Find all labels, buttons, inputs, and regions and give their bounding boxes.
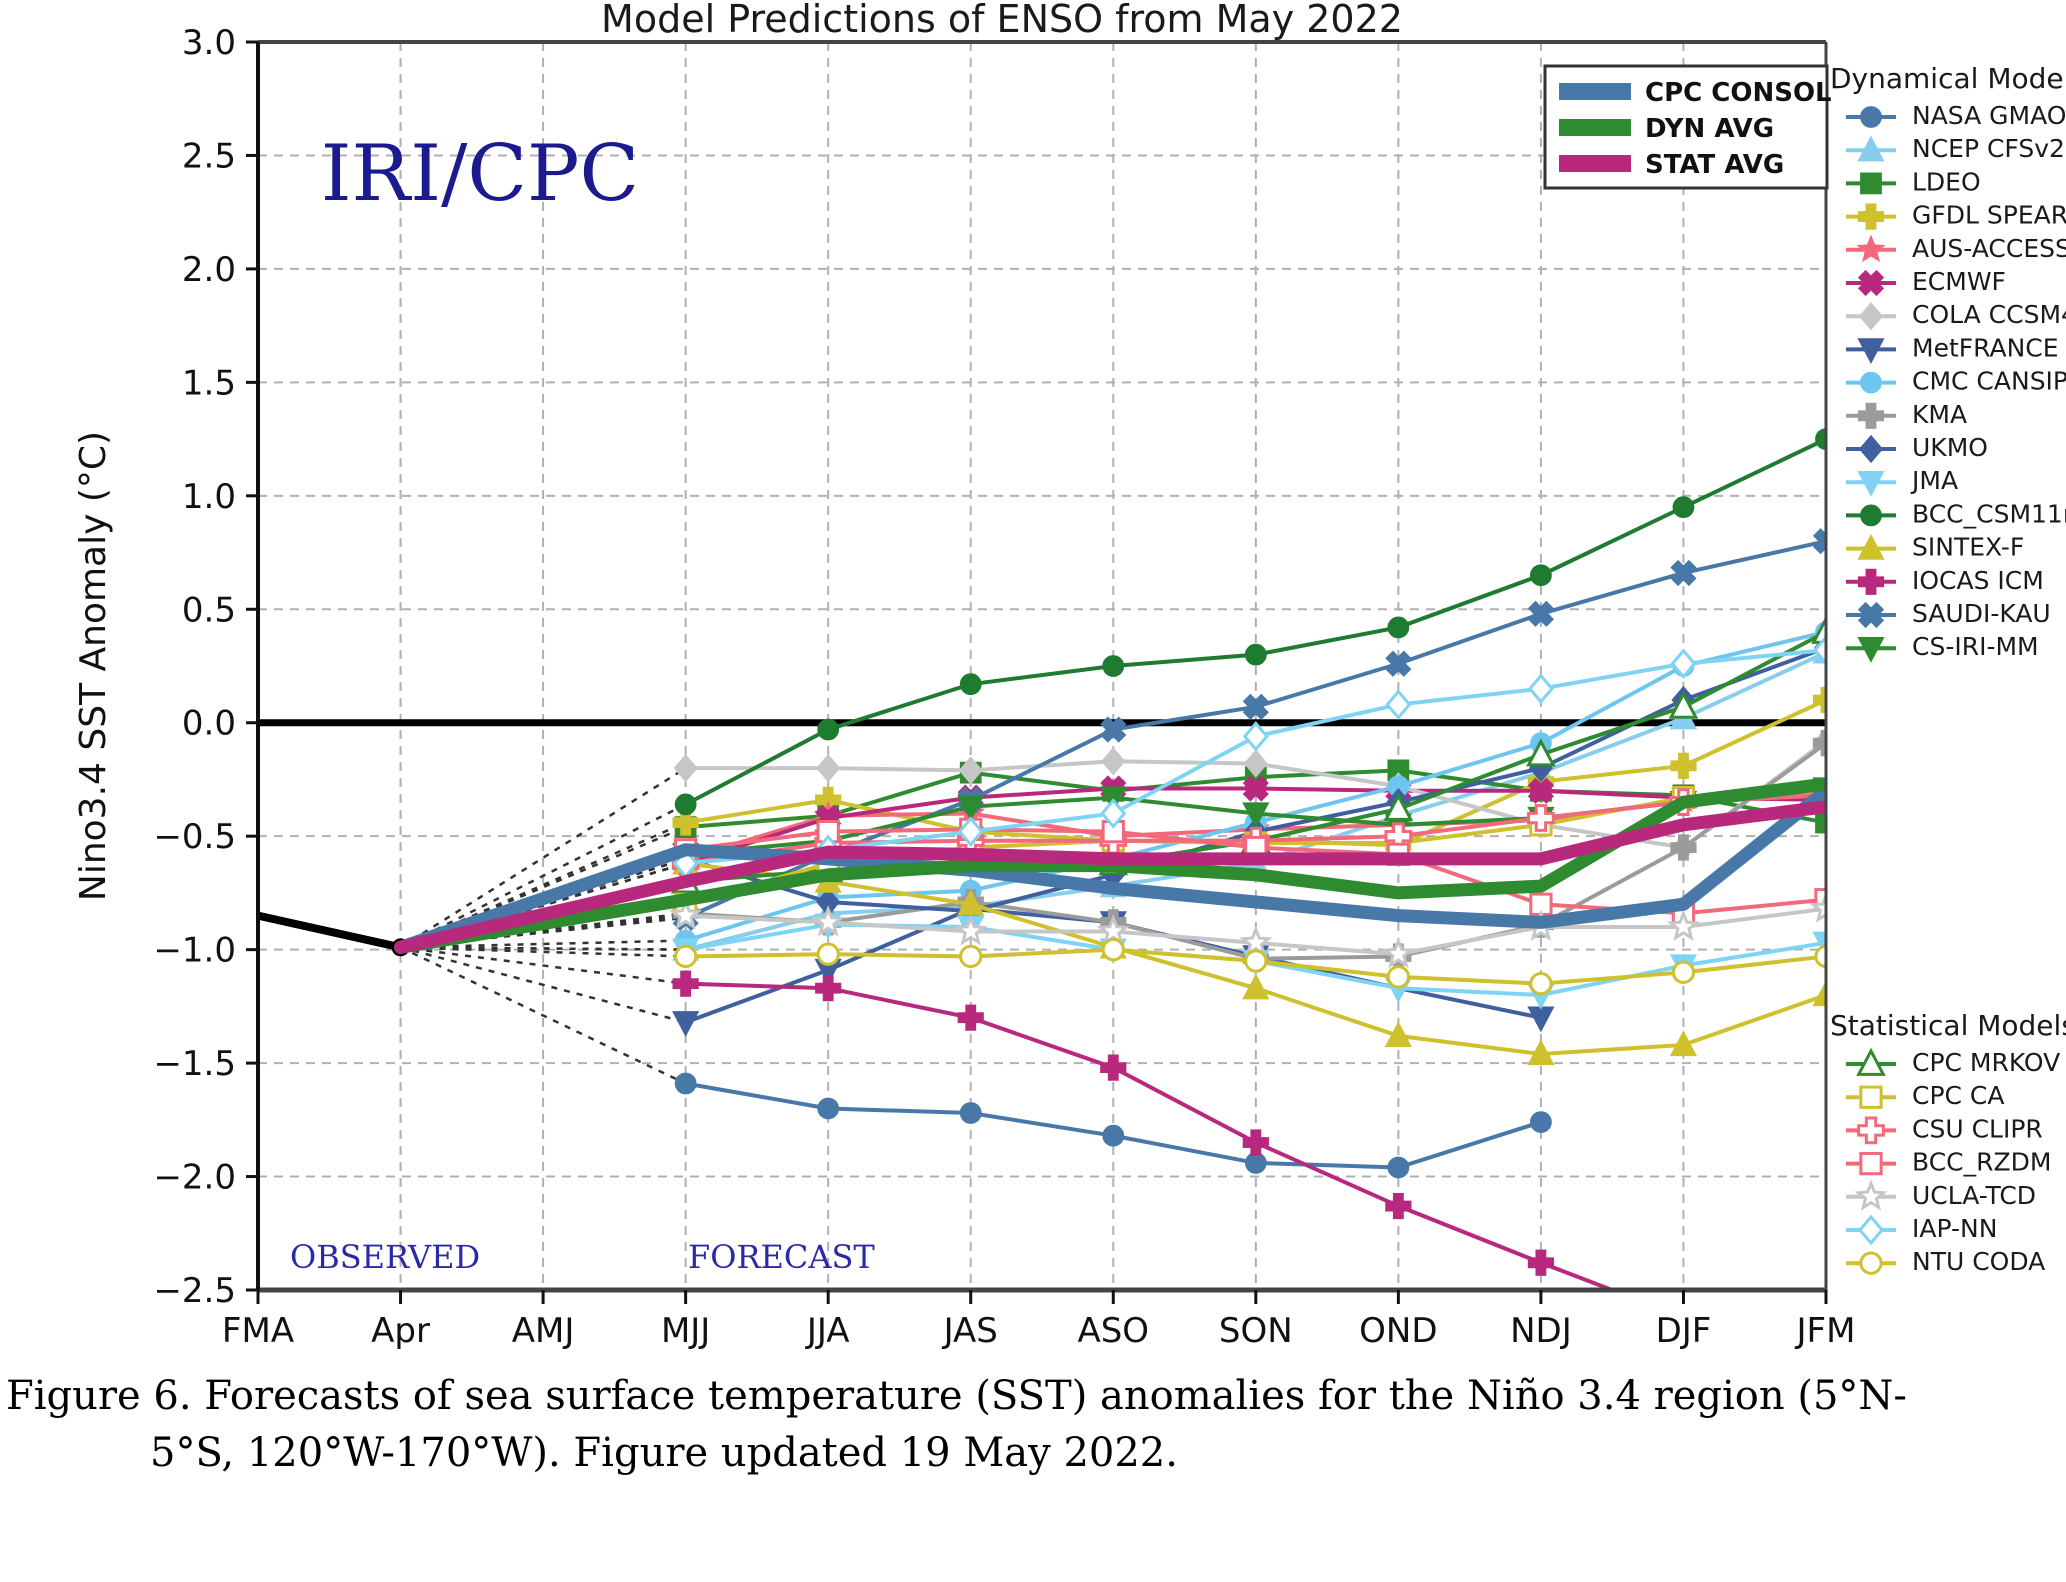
enso-forecast-chart: IRI/CPCOBSERVEDFORECAST3.02.52.01.51.00.… [0,0,2066,1360]
x-tick-label: AMJ [512,1311,575,1351]
legend-model-label: MetFRANCE [1912,333,2059,362]
figure-container: IRI/CPCOBSERVEDFORECAST3.02.52.01.51.00.… [0,0,2066,1582]
legend-model-label: JMA [1910,466,1958,495]
chart-title: Model Predictions of ENSO from May 2022 [601,0,1403,41]
x-tick-label: MJJ [661,1311,710,1351]
y-tick-label: 2.5 [182,136,236,176]
legend-model-label: AUS-ACCESS [1912,234,2066,263]
legend-label-cpc-consol: CPC CONSOL [1645,78,1832,108]
y-tick-label: −1.5 [153,1044,236,1084]
y-tick-label: 0.5 [182,590,236,630]
legend-model-label: SINTEX-F [1912,533,2024,562]
legend-model-label: IOCAS ICM [1912,566,2044,595]
x-tick-label: JFM [1795,1311,1856,1351]
legend-label-stat-avg: STAT AVG [1645,150,1784,180]
legend-model-label: CS-IRI-MM [1912,632,2039,661]
legend-model-label: KMA [1912,400,1967,429]
x-tick-label: JAS [942,1311,998,1351]
caption-line-1: Figure 6. Forecasts of sea surface tempe… [0,1368,2066,1425]
caption-line-2: 5°S, 120°W-170°W). Figure updated 19 May… [0,1425,2066,1482]
y-tick-label: −2.5 [153,1271,236,1311]
legend-swatch-cpc-consol [1559,83,1631,100]
legend-model-label: GFDL SPEAR [1912,201,2066,230]
plot-background [258,42,1826,1290]
legend-model-label: CPC CA [1912,1081,2005,1110]
y-tick-label: 0.0 [182,704,236,744]
x-tick-label: NDJ [1510,1311,1572,1351]
y-tick-label: 1.0 [182,477,236,517]
dynamical-models-legend-title: Dynamical Models [1830,62,2066,95]
legend-model-label: NCEP CFSv2 [1912,134,2065,163]
legend-model-label: LDEO [1912,167,1981,196]
y-tick-label: −1.0 [153,931,236,971]
mask-left [0,0,258,1360]
iri-cpc-watermark: IRI/CPC [321,129,639,219]
legend-model-label: NASA GMAO [1912,101,2066,130]
figure-caption: Figure 6. Forecasts of sea surface tempe… [0,1368,2066,1482]
x-tick-label: JJA [805,1311,850,1351]
statistical-models-legend-title: Statistical Models [1830,1009,2066,1042]
legend-model-label: COLA CCSM4 [1912,300,2066,329]
legend-model-label: CPC MRKOV [1912,1048,2060,1077]
forecast-label: FORECAST [688,1238,875,1276]
y-tick-label: 3.0 [182,23,236,63]
x-tick-label: FMA [222,1311,294,1351]
x-tick-label: OND [1359,1311,1437,1351]
x-tick-label: DJF [1656,1311,1712,1351]
x-tick-label: SON [1219,1311,1293,1351]
legend-model-label: ECMWF [1912,267,2006,296]
observed-label: OBSERVED [290,1238,480,1276]
legend-model-label: SAUDI-KAU [1912,599,2051,628]
legend-model-label: CMC CANSIP [1912,367,2066,396]
legend-model-label: CSU CLIPR [1912,1114,2043,1143]
legend-model-label: IAP-NN [1912,1214,1997,1243]
y-tick-label: −0.5 [153,817,236,857]
legend-model-label: BCC_CSM11m [1912,499,2066,528]
x-tick-label: Apr [371,1311,430,1351]
chart-svg: IRI/CPCOBSERVEDFORECAST3.02.52.01.51.00.… [0,0,2066,1360]
legend-model-label: NTU CODA [1912,1247,2045,1276]
y-tick-label: −2.0 [153,1158,236,1198]
x-tick-label: ASO [1077,1311,1149,1351]
y-tick-label: 1.5 [182,363,236,403]
legend-model-label: UCLA-TCD [1912,1181,2036,1210]
legend-swatch-dyn-avg [1559,119,1631,136]
legend-label-dyn-avg: DYN AVG [1645,114,1774,144]
legend-model-label: UKMO [1912,433,1988,462]
y-tick-label: 2.0 [182,250,236,290]
legend-model-label: BCC_RZDM [1912,1148,2051,1177]
mask-bottom [0,1291,2066,1360]
legend-swatch-stat-avg [1559,155,1631,172]
y-axis-label: Nino3.4 SST Anomaly (°C) [73,431,114,901]
